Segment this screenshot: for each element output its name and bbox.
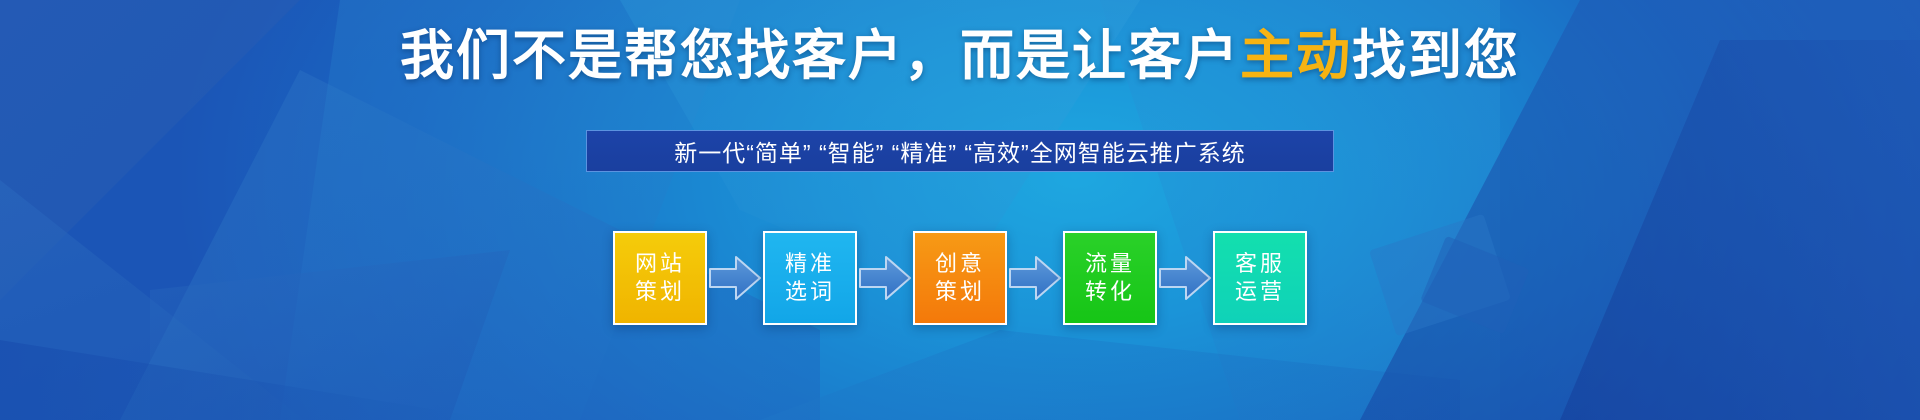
process-step-keyword-selection[interactable]: 精准选词 bbox=[763, 231, 857, 325]
process-step-label-line2: 转化 bbox=[1085, 278, 1135, 306]
process-step-label-line2: 选词 bbox=[785, 278, 835, 306]
promo-banner: 我们不是帮您找客户，而是让客户主动找到您 新一代“简单” “智能” “精准” “… bbox=[0, 0, 1920, 420]
process-step-website-planning[interactable]: 网站策划 bbox=[613, 231, 707, 325]
process-step-label-line1: 网站 bbox=[635, 250, 685, 278]
process-step-label-line1: 精准 bbox=[785, 250, 835, 278]
process-step-label-line2: 策划 bbox=[935, 278, 985, 306]
headline-accent: 主动 bbox=[1240, 26, 1352, 86]
process-step-customer-service[interactable]: 客服运营 bbox=[1213, 231, 1307, 325]
process-step-label-line2: 运营 bbox=[1235, 278, 1285, 306]
background-facet bbox=[150, 250, 510, 420]
headline-part2: 找到您 bbox=[1352, 26, 1520, 86]
process-flow: 网站策划精准选词创意策划流量转化客服运营 bbox=[613, 228, 1307, 328]
chevron-right-arrow bbox=[857, 228, 913, 328]
process-step-label-line2: 策划 bbox=[635, 278, 685, 306]
background-facet bbox=[1560, 40, 1920, 420]
background-facet bbox=[0, 340, 500, 420]
headline-part1: 我们不是帮您找客户，而是让客户 bbox=[400, 26, 1240, 86]
background-facet bbox=[0, 60, 520, 420]
chevron-right-arrow bbox=[707, 228, 763, 328]
background-facet bbox=[1420, 236, 1530, 335]
chevron-right-arrow bbox=[1007, 228, 1063, 328]
process-step-creative-planning[interactable]: 创意策划 bbox=[913, 231, 1007, 325]
process-step-traffic-conversion[interactable]: 流量转化 bbox=[1063, 231, 1157, 325]
background-facet bbox=[760, 330, 1460, 420]
background-facet bbox=[1369, 214, 1511, 337]
process-step-label-line1: 创意 bbox=[935, 250, 985, 278]
subtitle-text: 新一代“简单” “智能” “精准” “高效”全网智能云推广系统 bbox=[674, 134, 1245, 168]
banner-headline: 我们不是帮您找客户，而是让客户主动找到您 bbox=[0, 24, 1920, 88]
process-step-label-line1: 流量 bbox=[1085, 250, 1135, 278]
chevron-right-arrow bbox=[1157, 228, 1213, 328]
process-step-label-line1: 客服 bbox=[1235, 250, 1285, 278]
subtitle-bar: 新一代“简单” “智能” “精准” “高效”全网智能云推广系统 bbox=[586, 130, 1334, 172]
